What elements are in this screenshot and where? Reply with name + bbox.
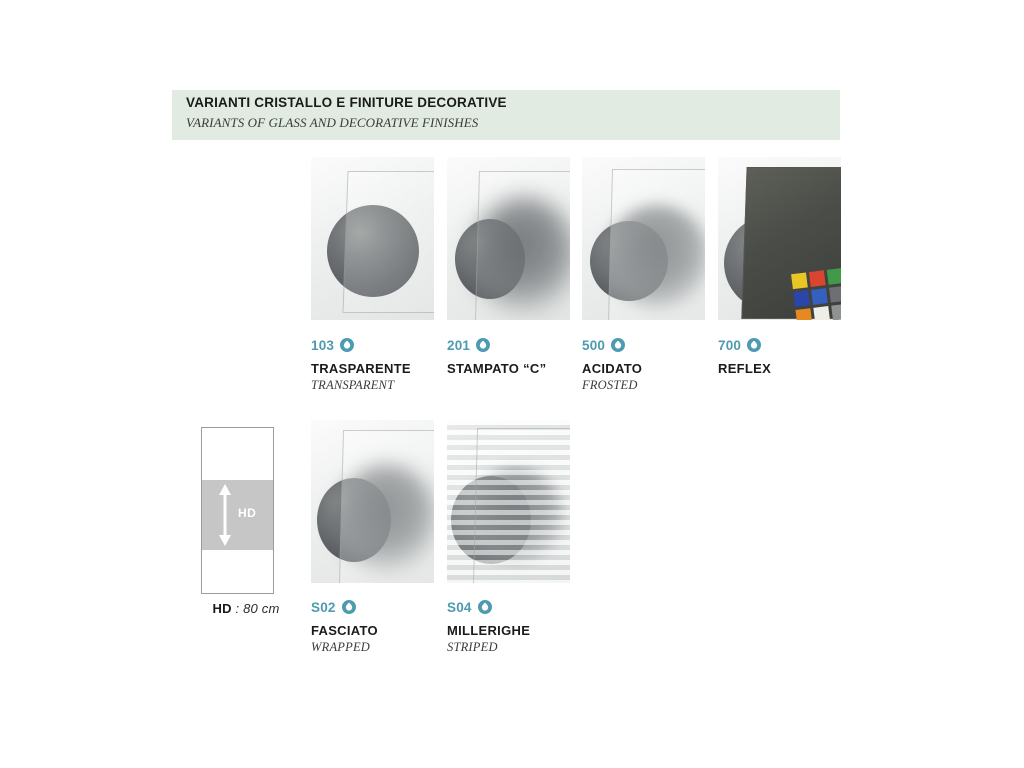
sample-image-201[interactable]: [447, 157, 570, 320]
page-title: VARIANTI CRISTALLO E FINITURE DECORATIVE: [186, 95, 507, 110]
code-row: 103: [311, 336, 411, 354]
color-swatch: [809, 270, 826, 287]
sample-image-103[interactable]: [311, 157, 434, 320]
sample-image-500[interactable]: [582, 157, 705, 320]
code-row: 500: [582, 336, 642, 354]
sample-caption-S04: S04 MILLERIGHE STRIPED: [447, 598, 530, 655]
color-swatch: [811, 288, 828, 305]
color-swatch: [813, 306, 830, 320]
glass-variants-page: VARIANTI CRISTALLO E FINITURE DECORATIVE…: [0, 0, 1024, 768]
hd-band-label: HD: [238, 506, 256, 520]
glass-pane: [343, 171, 434, 313]
hd-double-arrow-icon: [218, 484, 232, 546]
sample-name: REFLEX: [718, 361, 771, 376]
color-swatch: [831, 304, 841, 320]
sample-photo: [311, 157, 434, 320]
hd-caption-separator: :: [232, 601, 243, 616]
sample-photo: [718, 157, 841, 320]
color-swatch: [791, 272, 808, 289]
sample-name: STAMPATO “C”: [447, 361, 546, 376]
page-subtitle: VARIANTS OF GLASS AND DECORATIVE FINISHE…: [186, 115, 478, 131]
sample-name-en: TRANSPARENT: [311, 378, 411, 393]
glass-drop-icon: [746, 337, 762, 353]
glass-drop-icon: [341, 599, 357, 615]
glass-pane: [339, 430, 434, 583]
code-row: 201: [447, 336, 546, 354]
sample-name: TRASPARENTE: [311, 361, 411, 376]
sample-caption-S02: S02 FASCIATO WRAPPED: [311, 598, 378, 655]
sample-code: 500: [582, 338, 605, 353]
hd-diagram: HD: [201, 427, 274, 594]
glass-drop-icon: [610, 337, 626, 353]
color-swatch: [829, 286, 841, 303]
color-swatch: [795, 308, 812, 320]
color-swatch: [793, 290, 810, 307]
sample-name: ACIDATO: [582, 361, 642, 376]
sample-name: MILLERIGHE: [447, 623, 530, 638]
sample-code: S04: [447, 600, 472, 615]
sample-name: FASCIATO: [311, 623, 378, 638]
sample-image-S04[interactable]: [447, 420, 570, 583]
sample-photo: [582, 157, 705, 320]
sample-photo: [447, 157, 570, 320]
sample-image-700[interactable]: [718, 157, 841, 320]
color-swatch: [827, 268, 841, 285]
color-checker-chart: [791, 268, 841, 320]
section-banner: VARIANTI CRISTALLO E FINITURE DECORATIVE…: [172, 90, 840, 140]
code-row: 700: [718, 336, 771, 354]
code-row: S04: [447, 598, 530, 616]
glass-drop-icon: [339, 337, 355, 353]
sample-caption-500: 500 ACIDATO FROSTED: [582, 336, 642, 393]
sample-image-S02[interactable]: [311, 420, 434, 583]
hd-caption-value: 80 cm: [243, 601, 279, 616]
glass-drop-icon: [475, 337, 491, 353]
sample-caption-201: 201 STAMPATO “C”: [447, 336, 546, 378]
sample-code: 103: [311, 338, 334, 353]
sample-photo: [447, 420, 570, 583]
sample-code: S02: [311, 600, 336, 615]
sample-name-en: FROSTED: [582, 378, 642, 393]
hd-caption-key: HD: [212, 601, 231, 616]
glass-pane: [608, 169, 705, 320]
glass-drop-icon: [477, 599, 493, 615]
code-row: S02: [311, 598, 378, 616]
glass-pane: [475, 171, 570, 320]
sample-caption-700: 700 REFLEX: [718, 336, 771, 378]
sample-caption-103: 103 TRASPARENTE TRANSPARENT: [311, 336, 411, 393]
sample-code: 201: [447, 338, 470, 353]
glass-pane: [473, 428, 570, 583]
sample-code: 700: [718, 338, 741, 353]
hd-caption: HD : 80 cm: [196, 600, 296, 618]
sample-photo: [311, 420, 434, 583]
sample-name-en: STRIPED: [447, 640, 530, 655]
sample-name-en: WRAPPED: [311, 640, 378, 655]
